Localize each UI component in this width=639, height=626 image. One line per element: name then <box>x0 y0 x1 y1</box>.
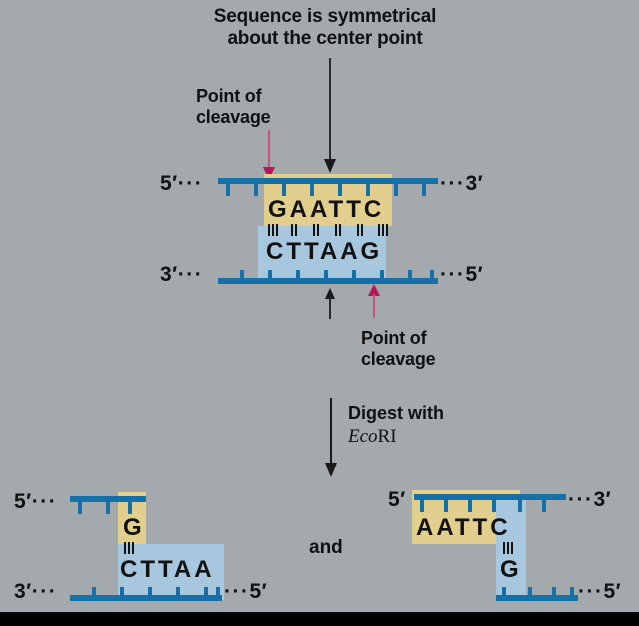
end-label: 3′ <box>593 488 611 511</box>
cleavage-arrow-bottom <box>367 284 381 320</box>
ellipsis: ··· <box>440 263 465 286</box>
fragment-left-top-end: 5′··· <box>14 490 57 514</box>
end-label: 5′ <box>249 580 267 603</box>
fragment-right-top-strand <box>414 494 566 514</box>
fragment-right-bottom-strand <box>496 582 578 602</box>
hydrogen-bonds-duplex <box>268 224 394 236</box>
fragment-left-bottom-sequence: CTTAA <box>120 556 215 584</box>
end-label: 3′ <box>14 580 32 603</box>
duplex-top-left-end: 5′··· <box>160 172 203 196</box>
enzyme-genus: Eco <box>348 426 378 447</box>
ellipsis: ··· <box>440 172 465 195</box>
ellipsis: ··· <box>32 490 57 513</box>
duplex-top-right-end: ···3′ <box>440 172 483 196</box>
digest-arrow <box>324 398 338 480</box>
ellipsis: ··· <box>224 580 249 603</box>
duplex-bottom-left-end: 3′··· <box>160 263 203 287</box>
figure-canvas: Sequence is symmetrical about the center… <box>0 0 639 626</box>
enzyme-label: EcoRI <box>348 426 397 448</box>
end-label: 5′ <box>603 580 621 603</box>
poc-bottom-line1: Point of <box>361 328 521 349</box>
figure-title-line1: Sequence is symmetrical <box>170 6 480 28</box>
fragment-left-bottom-left-end: 3′··· <box>14 580 57 604</box>
end-label: 3′ <box>160 263 178 286</box>
fragment-right-top-left-end: 5′ <box>388 488 406 512</box>
ellipsis: ··· <box>178 263 203 286</box>
fragment-right-bottom-right-end: ···5′ <box>578 580 621 604</box>
center-point-arrow-lower <box>323 288 337 322</box>
enzyme-number: RI <box>378 426 397 447</box>
digest-label: Digest with <box>348 403 444 425</box>
ellipsis: ··· <box>32 580 57 603</box>
poc-bottom-line2: cleavage <box>361 349 521 370</box>
letterbox-bar <box>0 612 639 626</box>
fragment-right-hydrogen-bonds <box>503 542 517 554</box>
figure-title: Sequence is symmetrical about the center… <box>170 6 480 51</box>
center-point-arrow <box>323 58 337 176</box>
recognition-sequence-bottom: CTTAAG <box>266 238 382 266</box>
duplex-bottom-right-end: ···5′ <box>440 263 483 287</box>
fragment-right-bottom-sequence: G <box>500 556 522 584</box>
fragment-left-bottom-right-end: ···5′ <box>224 580 267 604</box>
fragment-right-top-right-end: ···3′ <box>568 488 611 512</box>
fragment-left-top-sequence: G <box>123 514 145 542</box>
fragment-right-top-sequence: AATTC <box>416 514 511 542</box>
ellipsis: ··· <box>578 580 603 603</box>
end-label: 5′ <box>14 490 32 513</box>
figure-title-line2: about the center point <box>170 28 480 50</box>
fragment-left-bottom-strand <box>70 582 222 602</box>
ellipsis: ··· <box>178 172 203 195</box>
point-of-cleavage-label-bottom: Point of cleavage <box>361 328 521 370</box>
conjunction-and: and <box>309 537 343 559</box>
end-label: 5′ <box>465 263 483 286</box>
end-label: 3′ <box>465 172 483 195</box>
recognition-sequence-top: GAATTC <box>268 196 384 224</box>
fragment-left-top-strand <box>70 496 146 516</box>
ellipsis: ··· <box>568 488 593 511</box>
end-label: 5′ <box>388 488 406 511</box>
duplex-top-strand <box>218 178 438 198</box>
fragment-left-hydrogen-bonds <box>124 542 138 554</box>
duplex-bottom-strand <box>218 265 438 285</box>
end-label: 5′ <box>160 172 178 195</box>
